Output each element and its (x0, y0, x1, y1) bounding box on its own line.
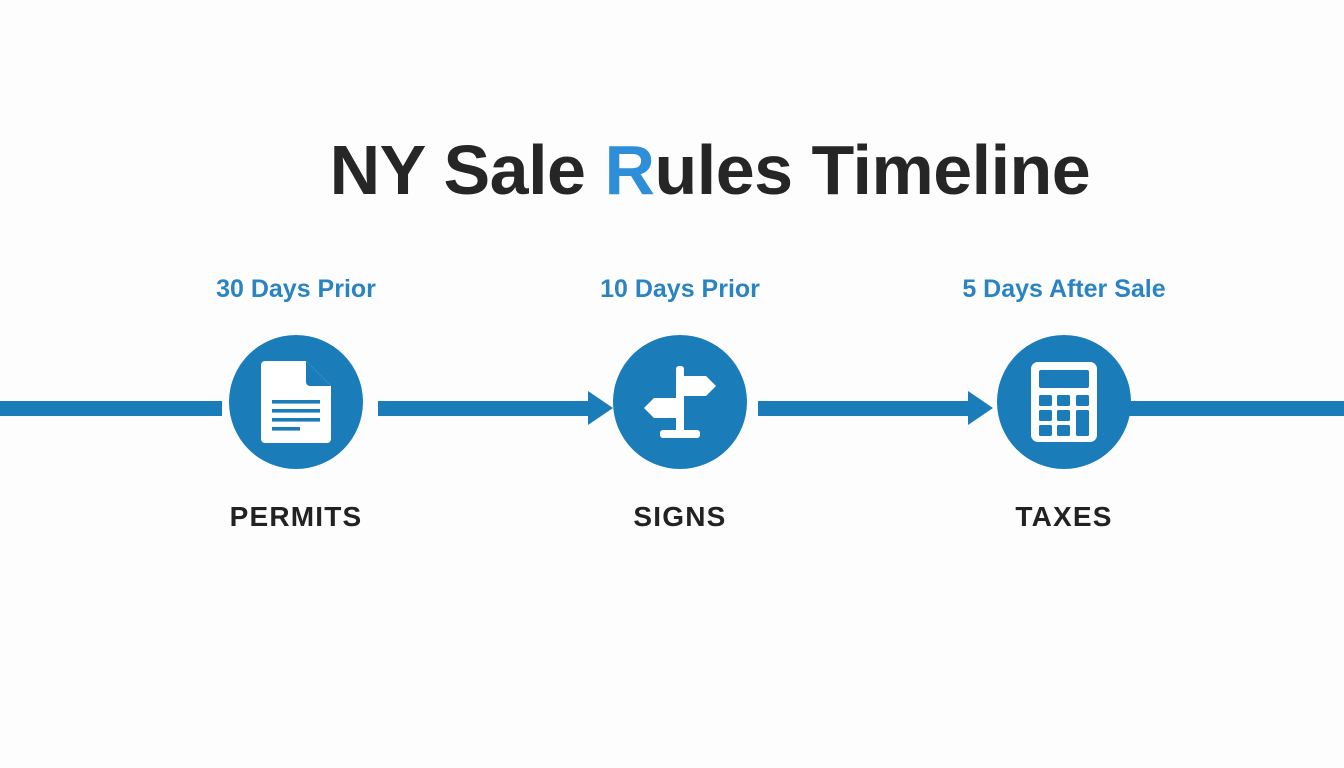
document-icon (261, 361, 331, 443)
step-time-label-taxes: 5 Days After Sale (914, 272, 1214, 306)
title-accent-letter: R (604, 131, 654, 209)
timeline-step-permits[interactable]: 30 Days Prior PERMITS (146, 272, 446, 533)
step-name-signs: SIGNS (530, 501, 830, 533)
step-icon-circle-permits[interactable] (229, 335, 363, 469)
title-text-after: ules Timeline (655, 131, 1091, 209)
timeline-infographic: NY Sale Rules Timeline 30 Days Prior PER… (0, 0, 1344, 768)
step-time-label-permits: 30 Days Prior (146, 272, 446, 306)
step-name-permits: PERMITS (146, 501, 446, 533)
step-name-taxes: TAXES (914, 501, 1214, 533)
step-time-label-signs: 10 Days Prior (530, 272, 830, 306)
step-icon-circle-signs[interactable] (613, 335, 747, 469)
step-icon-circle-taxes[interactable] (997, 335, 1131, 469)
signpost-icon (640, 362, 720, 442)
title-text-before: NY Sale (330, 131, 605, 209)
page-title: NY Sale Rules Timeline (0, 60, 1344, 281)
timeline-step-taxes[interactable]: 5 Days After Sale TAXES (914, 272, 1214, 533)
timeline-step-signs[interactable]: 10 Days Prior SIGNS (530, 272, 830, 533)
calculator-icon (1031, 362, 1097, 442)
